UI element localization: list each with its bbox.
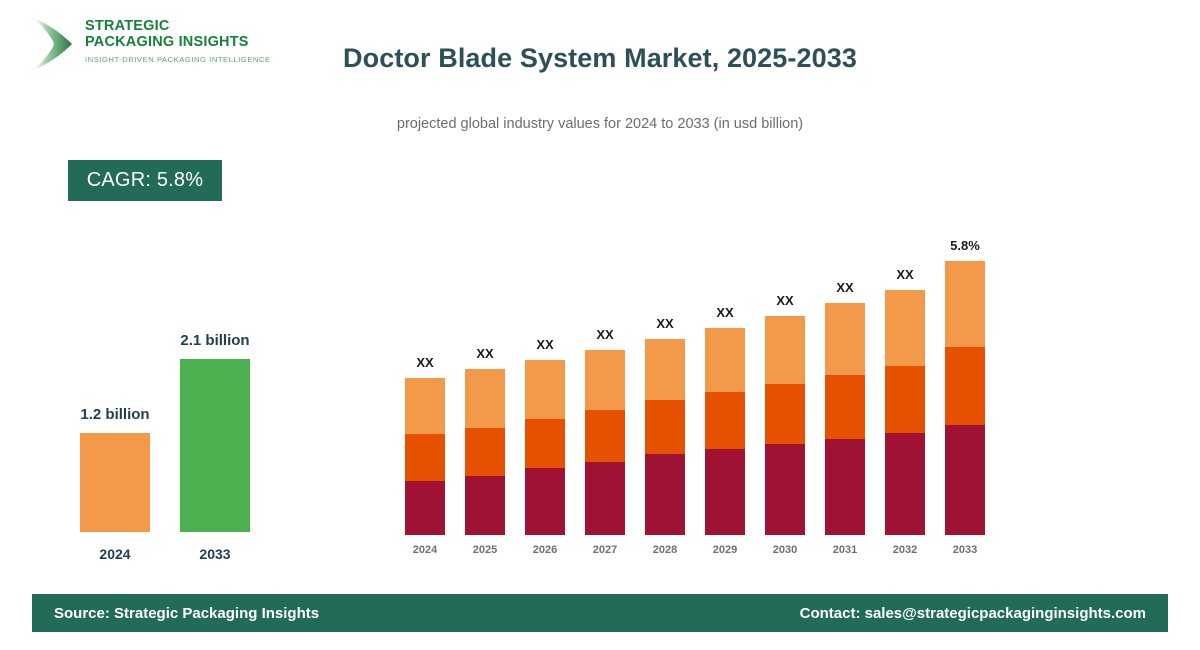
bar-segment-segment-2 [705,392,745,449]
stacked-bar-chart: XX2024XX2025XX2026XX2027XX2028XX2029XX20… [405,200,1025,560]
bar-segment-segment-1 [705,449,745,535]
bar-segment-segment-3 [465,369,505,428]
bar-segment-segment-1 [945,425,985,535]
comparison-year-label: 2033 [160,546,270,562]
bar-segment-segment-2 [585,410,625,462]
bar-segment-segment-2 [765,384,805,444]
bar-segment-segment-1 [405,481,445,535]
comparison-value-label: 2.1 billion [146,332,284,349]
bar-segment-segment-2 [465,428,505,476]
stacked-bar [705,328,745,535]
bar-segment-segment-3 [405,378,445,434]
page-subtitle: projected global industry values for 202… [0,116,1200,132]
stacked-bar [945,261,985,535]
stacked-column-2028: XX2028 [645,200,685,560]
bar-segment-segment-1 [585,462,625,535]
stacked-bar [825,303,865,535]
page-title: Doctor Blade System Market, 2025-2033 [0,43,1200,74]
bar-segment-segment-2 [885,366,925,434]
stacked-column-2030: XX2030 [765,200,805,560]
bar-segment-segment-2 [945,347,985,425]
bar-value-label: XX [860,267,950,282]
comparison-column-2024: 1.2 billion2024 [80,300,150,570]
bar-segment-segment-3 [705,328,745,392]
bar-segment-segment-3 [885,290,925,366]
stacked-bar [465,369,505,535]
footer-source: Source: Strategic Packaging Insights [54,605,319,622]
stacked-bar [765,316,805,535]
bar-value-label: 5.8% [920,238,1010,253]
comparison-bar [80,433,150,532]
bar-segment-segment-1 [525,468,565,535]
brand-line-1: STRATEGIC [85,18,271,34]
stacked-column-2025: XX2025 [465,200,505,560]
stacked-column-2032: XX2032 [885,200,925,560]
comparison-column-2033: 2.1 billion2033 [180,300,250,570]
bar-year-label: 2033 [930,544,1000,556]
comparison-year-label: 2024 [60,546,170,562]
stacked-bar [585,350,625,535]
bar-segment-segment-1 [465,476,505,535]
bar-segment-segment-3 [825,303,865,375]
stacked-bar [405,378,445,535]
stacked-column-2026: XX2026 [525,200,565,560]
comparison-bar [180,359,250,532]
stacked-column-2024: XX2024 [405,200,445,560]
cagr-badge: CAGR: 5.8% [68,160,222,201]
comparison-value-label: 1.2 billion [46,406,184,423]
stacked-column-2031: XX2031 [825,200,865,560]
bar-segment-segment-1 [645,454,685,535]
stacked-bar [645,339,685,535]
stacked-column-2027: XX2027 [585,200,625,560]
stacked-bar [525,360,565,535]
bar-segment-segment-3 [585,350,625,410]
bar-segment-segment-1 [885,433,925,535]
comparison-bar-chart: 1.2 billion20242.1 billion2033 [55,300,285,570]
stacked-column-2033: 5.8%2033 [945,200,985,560]
bar-segment-segment-3 [645,339,685,400]
bar-segment-segment-1 [765,444,805,535]
bar-value-label: XX [740,293,830,308]
bar-segment-segment-2 [645,400,685,454]
bar-segment-segment-2 [825,375,865,439]
bar-segment-segment-2 [525,419,565,469]
footer-contact: Contact: sales@strategicpackaginginsight… [800,605,1146,622]
bar-segment-segment-3 [945,261,985,347]
bar-segment-segment-3 [525,360,565,419]
stacked-column-2029: XX2029 [705,200,745,560]
stacked-bar [885,290,925,535]
bar-segment-segment-1 [825,439,865,535]
bar-segment-segment-2 [405,434,445,481]
bar-segment-segment-3 [765,316,805,384]
footer-bar: Source: Strategic Packaging Insights Con… [32,594,1168,632]
bar-value-label: XX [800,280,890,295]
